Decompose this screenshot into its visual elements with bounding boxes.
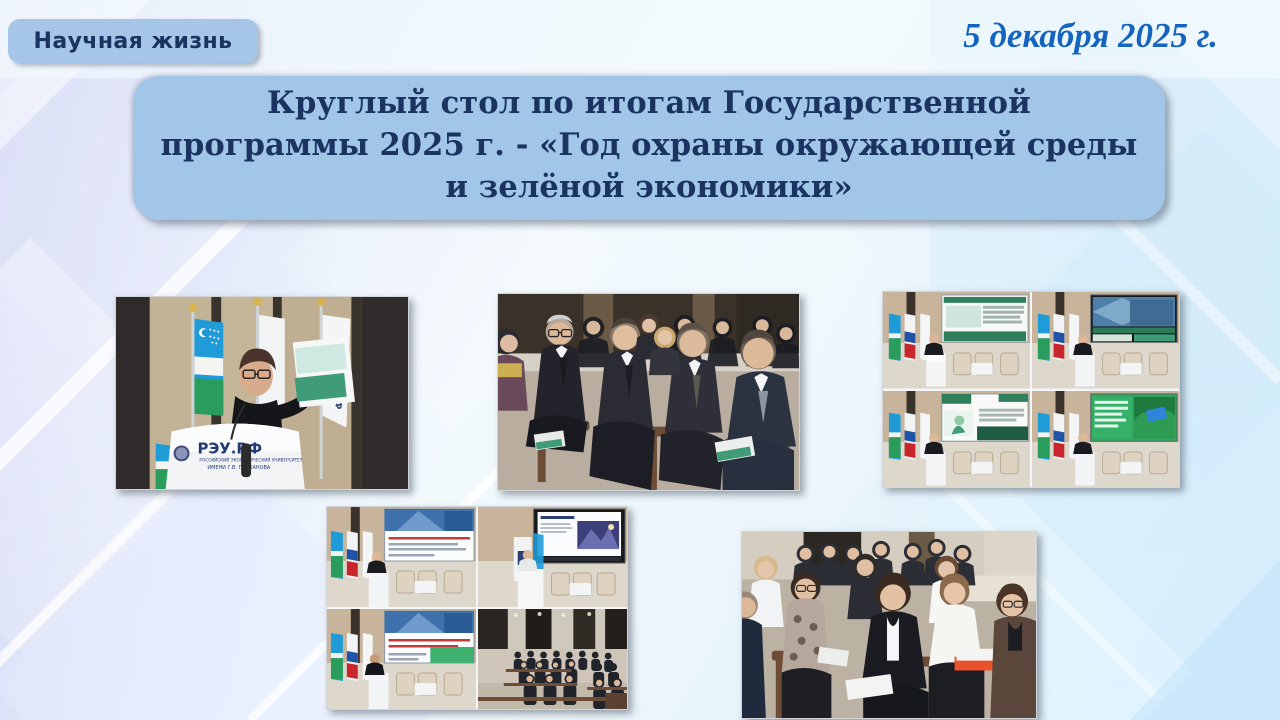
title-banner: Круглый стол по итогам Государственной п… xyxy=(133,76,1165,220)
collage-cell xyxy=(478,507,627,607)
collage-grid xyxy=(883,292,1179,487)
collage-cell xyxy=(1032,391,1179,488)
photo-participants-audience-art xyxy=(742,532,1036,718)
hall-blue-slide-art-2 xyxy=(327,609,476,709)
svg-text:РЭУ.РФ: РЭУ.РФ xyxy=(197,439,262,457)
slide-date: 5 декабря 2025 г. xyxy=(963,16,1218,56)
photo-officials-audience-art xyxy=(498,294,799,490)
photo-collage-presentations-1[interactable] xyxy=(882,291,1180,488)
hall-slide-1-art xyxy=(883,292,1030,389)
collage-cell xyxy=(883,391,1030,488)
photo-speaker-podium-art: РЭУ.РФ РЭУ.РФ xyxy=(116,297,408,489)
hall-slide-2-art xyxy=(1032,292,1179,389)
hall-slide-3-art xyxy=(883,391,1030,488)
collage-cell xyxy=(478,609,627,709)
collage-cell xyxy=(327,507,476,607)
collage-grid xyxy=(327,507,627,709)
category-tag[interactable]: Научная жизнь xyxy=(8,19,258,63)
hall-wide-audience-art xyxy=(478,609,627,709)
collage-cell xyxy=(1032,292,1179,389)
svg-text:ИМЕНИ Г.В. ПЛЕХАНОВА: ИМЕНИ Г.В. ПЛЕХАНОВА xyxy=(207,465,271,471)
photo-officials-audience[interactable] xyxy=(497,293,800,491)
collage-cell xyxy=(327,609,476,709)
photo-collage-presentations-2[interactable] xyxy=(326,506,628,710)
slide-canvas: Научная жизнь 5 декабря 2025 г. Круглый … xyxy=(0,0,1280,720)
slide-title: Круглый стол по итогам Государственной п… xyxy=(159,83,1139,208)
svg-text:РОССИЙСКИЙ ЭКОНОМИЧЕСКИЙ УНИВЕ: РОССИЙСКИЙ ЭКОНОМИЧЕСКИЙ УНИВЕРСИТЕТ xyxy=(199,457,302,462)
hall-blue-slide-art-1 xyxy=(327,507,476,607)
collage-cell xyxy=(883,292,1030,389)
hall-slide-4-art xyxy=(1032,391,1179,488)
photo-participants-audience[interactable] xyxy=(741,531,1037,719)
hall-mountain-slide-art xyxy=(478,507,627,607)
category-tag-label: Научная жизнь xyxy=(34,29,233,54)
photo-speaker-podium[interactable]: РЭУ.РФ РЭУ.РФ xyxy=(115,296,409,490)
